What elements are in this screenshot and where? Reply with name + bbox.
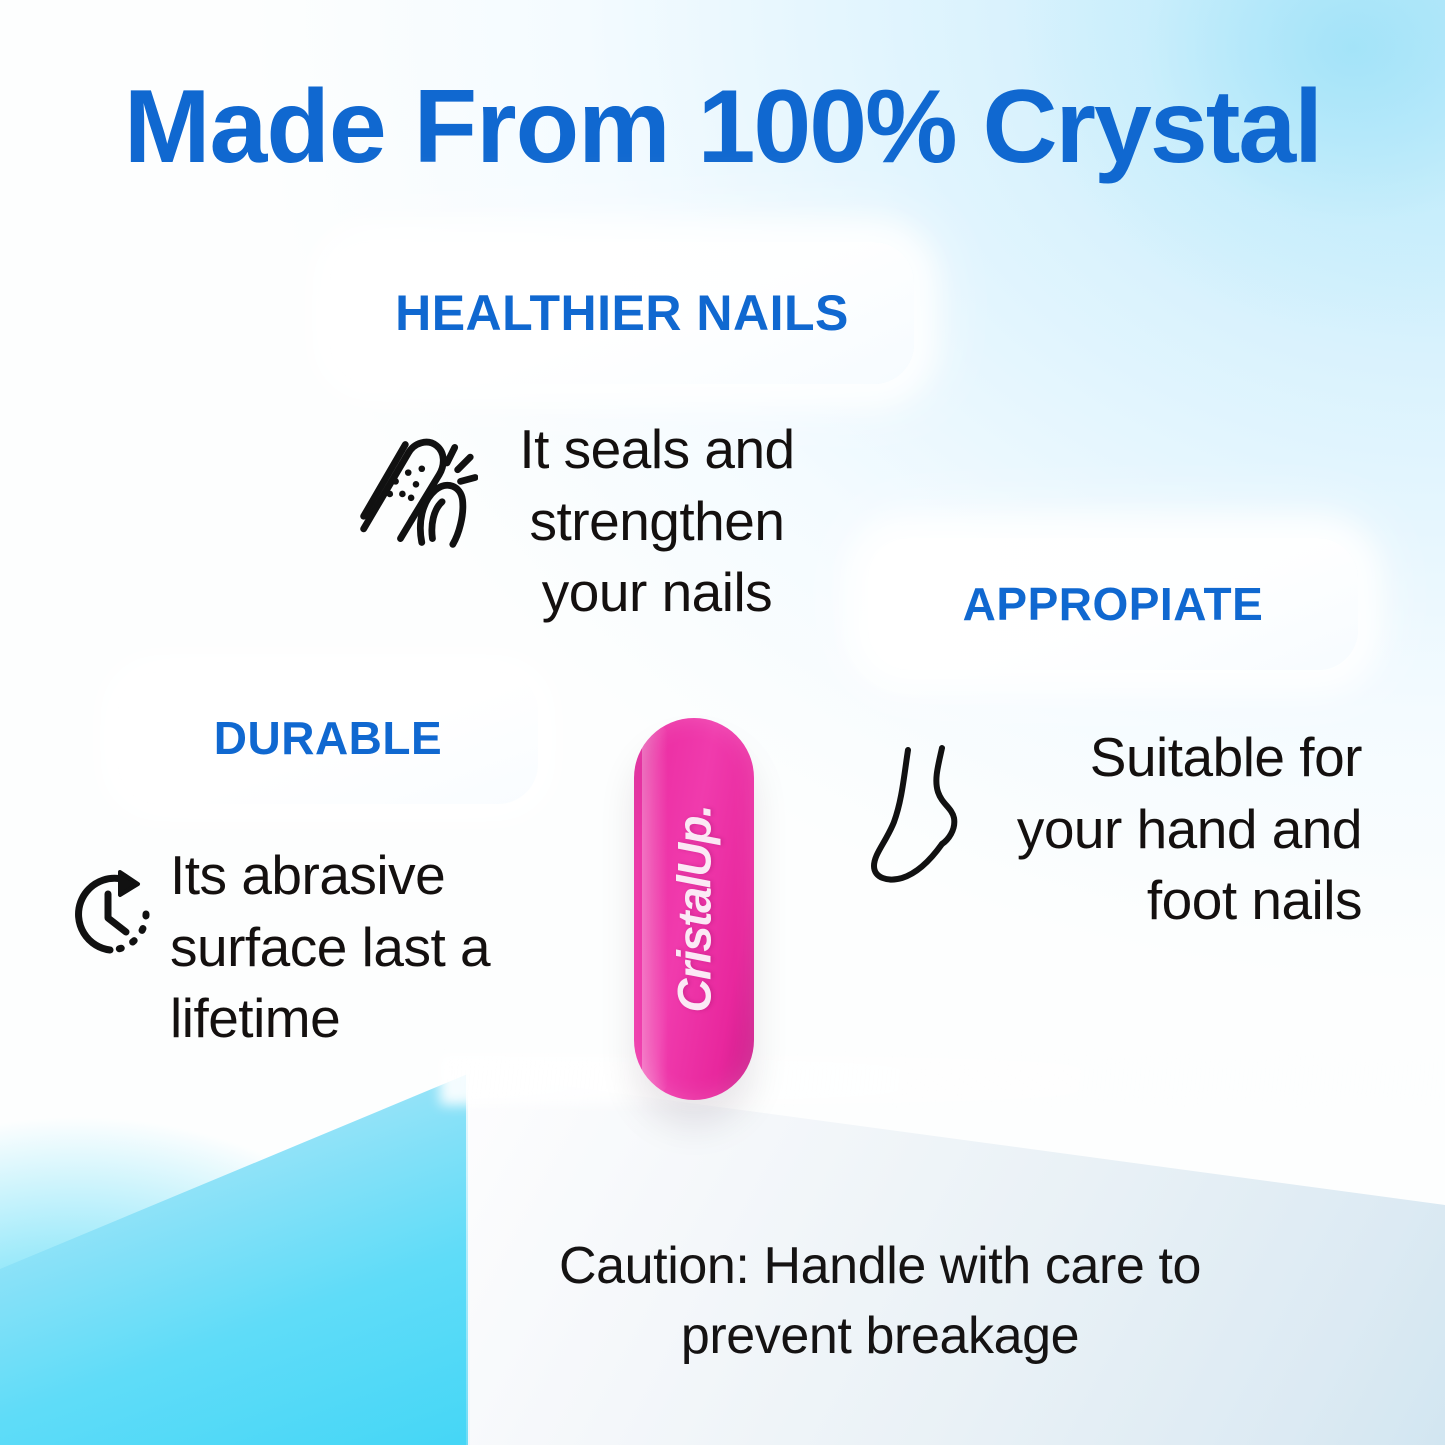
badge-appropiate: APPROPIATE — [868, 538, 1358, 670]
infographic-canvas: Made From 100% Crystal HEALTHIER NAILS A… — [0, 0, 1445, 1445]
product-nail-file: CristalUp. — [634, 718, 754, 1100]
pedestal-left-face — [0, 1073, 470, 1445]
feature-seals-text: It seals and strengthen your nails — [492, 414, 822, 629]
badge-durable: DURABLE — [118, 672, 538, 804]
product-sheen — [642, 724, 668, 1094]
page-title: Made From 100% Crystal — [0, 74, 1445, 180]
pedestal-top-highlight — [440, 1055, 1445, 1105]
page-title-bold: 100% Crystal — [698, 69, 1322, 185]
page-title-light: Made From — [124, 69, 698, 185]
clock-arrow-icon — [58, 862, 162, 966]
badge-healthier-nails-label: HEALTHIER NAILS — [395, 284, 849, 342]
caution-note: Caution: Handle with care to prevent bre… — [500, 1232, 1260, 1371]
pedestal-corner-edge — [466, 1073, 470, 1445]
feature-durable-text: Its abrasive surface last a lifetime — [170, 840, 520, 1055]
badge-healthier-nails: HEALTHIER NAILS — [330, 242, 914, 384]
feature-durable-lifetime: Its abrasive surface last a lifetime — [58, 840, 528, 1055]
product-brand-label: CristalUp. — [667, 806, 722, 1013]
nail-file-icon — [352, 430, 478, 548]
feature-seals-strengthen: It seals and strengthen your nails — [352, 414, 822, 629]
feature-suitable-hand-foot: Suitable for your hand and foot nails — [868, 722, 1368, 937]
badge-durable-label: DURABLE — [214, 711, 442, 765]
feature-suitable-text: Suitable for your hand and foot nails — [980, 722, 1362, 937]
badge-appropiate-label: APPROPIATE — [963, 577, 1264, 631]
foot-icon — [868, 736, 980, 886]
